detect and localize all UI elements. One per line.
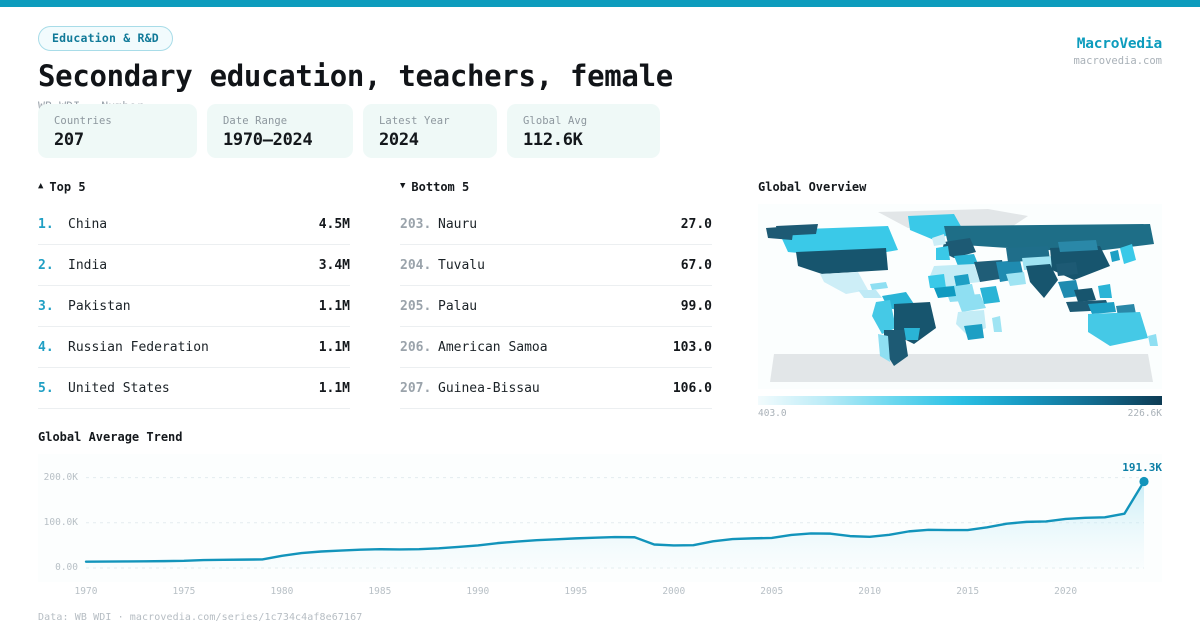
category-badge: Education & R&D <box>38 26 173 51</box>
x-axis-tick-label: 2005 <box>756 586 788 597</box>
brand: MacroVedia macrovedia.com <box>1073 36 1162 67</box>
world-map-svg <box>758 204 1162 389</box>
stat-label: Latest Year <box>379 115 481 127</box>
global-overview-section: Global Overview <box>758 180 1162 419</box>
trend-chart-svg <box>38 454 1162 582</box>
stat-label: Global Avg <box>523 115 644 127</box>
rank-number: 206. <box>400 340 438 355</box>
table-row[interactable]: 203. Nauru 27.0 <box>400 204 712 245</box>
rank-number: 204. <box>400 258 438 273</box>
stat-card-date-range: Date Range 1970–2024 <box>207 104 353 158</box>
legend-min-value: 403.0 <box>758 408 787 419</box>
stat-label: Date Range <box>223 115 337 127</box>
stat-card-latest-year: Latest Year 2024 <box>363 104 497 158</box>
stat-value: 207 <box>54 130 181 150</box>
y-axis-tick-label: 200.0K <box>38 472 78 483</box>
country-value: 27.0 <box>681 217 712 232</box>
choropleth-map[interactable] <box>758 204 1162 389</box>
x-axis-tick-label: 1980 <box>266 586 298 597</box>
bottom5-heading: ▼ Bottom 5 <box>400 180 712 194</box>
rank-number: 5. <box>38 381 68 396</box>
table-row[interactable]: 205. Palau 99.0 <box>400 286 712 327</box>
country-name: Russian Federation <box>68 340 319 355</box>
country-value: 103.0 <box>673 340 712 355</box>
country-value: 106.0 <box>673 381 712 396</box>
rank-number: 2. <box>38 258 68 273</box>
country-name: United States <box>68 381 319 396</box>
stat-card-global-avg: Global Avg 112.6K <box>507 104 660 158</box>
rank-number: 205. <box>400 299 438 314</box>
stat-value: 1970–2024 <box>223 130 337 150</box>
rank-number: 1. <box>38 217 68 232</box>
trend-chart[interactable]: 191.3K 0.00100.0K200.0K 1970197519801985… <box>38 454 1162 582</box>
country-name: Pakistan <box>68 299 319 314</box>
table-row[interactable]: 3. Pakistan 1.1M <box>38 286 350 327</box>
x-axis-tick-label: 2020 <box>1050 586 1082 597</box>
top5-column: ▲ Top 5 1. China 4.5M 2. India 3.4M 3. P… <box>38 180 350 409</box>
country-name: China <box>68 217 319 232</box>
table-row[interactable]: 1. China 4.5M <box>38 204 350 245</box>
x-axis-tick-label: 1985 <box>364 586 396 597</box>
table-row[interactable]: 4. Russian Federation 1.1M <box>38 327 350 368</box>
infographic-page: Education & R&D Secondary education, tea… <box>0 0 1200 630</box>
trend-title: Global Average Trend <box>38 430 1162 444</box>
table-row[interactable]: 207. Guinea-Bissau 106.0 <box>400 368 712 409</box>
rank-number: 4. <box>38 340 68 355</box>
page-title: Secondary education, teachers, female <box>38 60 1162 92</box>
table-row[interactable]: 2. India 3.4M <box>38 245 350 286</box>
country-name: Nauru <box>438 217 681 232</box>
x-axis-tick-label: 2000 <box>658 586 690 597</box>
country-name: American Samoa <box>438 340 673 355</box>
country-value: 3.4M <box>319 258 350 273</box>
country-name: India <box>68 258 319 273</box>
header: Education & R&D Secondary education, tea… <box>38 26 1162 113</box>
y-axis-tick-label: 100.0K <box>38 517 78 528</box>
rank-number: 203. <box>400 217 438 232</box>
trend-last-value: 191.3K <box>1122 461 1162 474</box>
triangle-down-icon: ▼ <box>400 182 405 191</box>
global-average-trend-section: Global Average Trend 191.3K 0.00100.0K20… <box>38 430 1162 582</box>
country-value: 67.0 <box>681 258 712 273</box>
map-title: Global Overview <box>758 180 1162 194</box>
brand-name: MacroVedia <box>1073 36 1162 52</box>
x-axis-tick-label: 2015 <box>952 586 984 597</box>
y-axis-tick-label: 0.00 <box>38 562 78 573</box>
ranking-section: ▲ Top 5 1. China 4.5M 2. India 3.4M 3. P… <box>38 180 712 409</box>
country-name: Tuvalu <box>438 258 681 273</box>
legend-colorbar <box>758 396 1162 405</box>
country-value: 99.0 <box>681 299 712 314</box>
bottom5-heading-label: Bottom 5 <box>411 180 469 194</box>
map-legend: 403.0 226.6K <box>758 396 1162 419</box>
x-axis-tick-label: 1970 <box>70 586 102 597</box>
country-value: 1.1M <box>319 299 350 314</box>
table-row[interactable]: 204. Tuvalu 67.0 <box>400 245 712 286</box>
x-axis-tick-label: 1975 <box>168 586 200 597</box>
stat-card-countries: Countries 207 <box>38 104 197 158</box>
bottom5-column: ▼ Bottom 5 203. Nauru 27.0 204. Tuvalu 6… <box>400 180 712 409</box>
x-axis-tick-label: 2010 <box>854 586 886 597</box>
brand-url: macrovedia.com <box>1073 55 1162 67</box>
country-name: Palau <box>438 299 681 314</box>
stat-cards: Countries 207 Date Range 1970–2024 Lates… <box>38 104 660 158</box>
rank-number: 207. <box>400 381 438 396</box>
x-axis-tick-label: 1995 <box>560 586 592 597</box>
stat-value: 2024 <box>379 130 481 150</box>
footer-source: Data: WB WDI · macrovedia.com/series/1c7… <box>38 612 362 623</box>
top-accent-bar <box>0 0 1200 7</box>
stat-value: 112.6K <box>523 130 644 150</box>
rank-number: 3. <box>38 299 68 314</box>
table-row[interactable]: 206. American Samoa 103.0 <box>400 327 712 368</box>
x-axis-tick-label: 1990 <box>462 586 494 597</box>
triangle-up-icon: ▲ <box>38 182 43 191</box>
top5-heading-label: Top 5 <box>49 180 85 194</box>
legend-max-value: 226.6K <box>1128 408 1162 419</box>
table-row[interactable]: 5. United States 1.1M <box>38 368 350 409</box>
country-value: 1.1M <box>319 381 350 396</box>
country-value: 4.5M <box>319 217 350 232</box>
country-name: Guinea-Bissau <box>438 381 673 396</box>
country-value: 1.1M <box>319 340 350 355</box>
stat-label: Countries <box>54 115 181 127</box>
top5-heading: ▲ Top 5 <box>38 180 350 194</box>
